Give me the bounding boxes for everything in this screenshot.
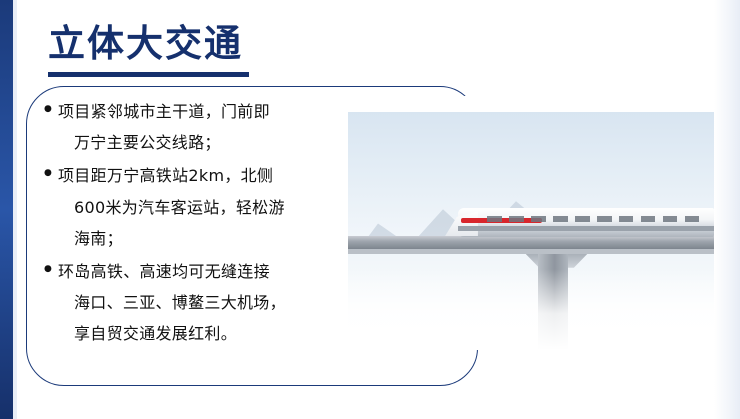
- train-window: [619, 216, 634, 222]
- list-item: 项目紧邻城市主干道，门前即 万宁主要公交线路；: [44, 96, 344, 158]
- right-decorative-band: [714, 0, 740, 419]
- bullet-line-2: 万宁主要公交线路；: [58, 127, 344, 158]
- train-window: [641, 216, 656, 222]
- bullet-line-1: 环岛高铁、高速均可无缝连接: [58, 262, 270, 281]
- train-window: [487, 216, 502, 222]
- list-item: 环岛高铁、高速均可无缝连接 海口、三亚、博鳌三大机场， 享自贸交通发展红利。: [44, 256, 344, 350]
- bullet-line-2: 600米为汽车客运站，轻松游: [58, 192, 344, 223]
- left-accent-bar-inner: [13, 0, 17, 419]
- bullet-line-1: 项目距万宁高铁站2km，北侧: [58, 166, 273, 185]
- list-item: 项目距万宁高铁站2km，北侧 600米为汽车客运站，轻松游 海南；: [44, 160, 344, 254]
- bullet-line-3: 享自贸交通发展红利。: [58, 318, 344, 349]
- train-window: [531, 216, 546, 222]
- train-window: [597, 216, 612, 222]
- train-window: [575, 216, 590, 222]
- viaduct-deck-shadow: [348, 249, 714, 254]
- train-window: [553, 216, 568, 222]
- bullet-list: 项目紧邻城市主干道，门前即 万宁主要公交线路； 项目距万宁高铁站2km，北侧 6…: [44, 96, 344, 352]
- left-accent-bar: [0, 0, 13, 419]
- train-red-stripe: [461, 218, 542, 224]
- page-title: 立体大交通: [48, 22, 243, 66]
- foreground-haze: [348, 269, 714, 350]
- high-speed-train-on-viaduct-photo: [348, 112, 714, 350]
- slide: 立体大交通 项目紧邻城市主干道，门前即 万宁主要公交线路； 项目距万宁高铁站2k…: [0, 0, 740, 419]
- bullet-line-3: 海南；: [58, 223, 344, 254]
- bullet-line-2: 海口、三亚、博鳌三大机场，: [58, 287, 344, 318]
- train-window: [663, 216, 678, 222]
- train-window: [509, 216, 524, 222]
- train-window: [685, 216, 700, 222]
- title-underline: [48, 72, 249, 77]
- viaduct-deck: [348, 236, 714, 249]
- train-grey-stripe: [458, 226, 714, 231]
- bullet-line-1: 项目紧邻城市主干道，门前即: [58, 102, 270, 121]
